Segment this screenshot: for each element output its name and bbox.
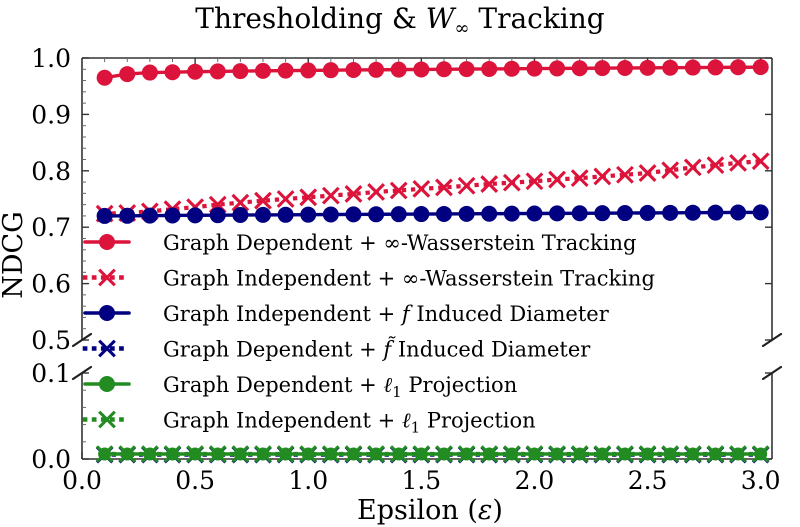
data-point-circle-marker bbox=[391, 62, 407, 78]
x-tick-label: 0.0 bbox=[62, 466, 102, 495]
data-point-circle-marker bbox=[99, 234, 115, 250]
data-point-circle-marker bbox=[187, 207, 203, 223]
data-point-circle-marker bbox=[142, 208, 158, 224]
x-tick-label: 1.0 bbox=[288, 466, 328, 495]
data-point-circle-marker bbox=[255, 63, 271, 79]
data-point-circle-marker bbox=[300, 62, 316, 78]
data-point-circle-marker bbox=[323, 207, 339, 223]
data-point-circle-marker bbox=[210, 207, 226, 223]
data-point-circle-marker bbox=[413, 206, 429, 222]
data-point-circle-marker bbox=[662, 205, 678, 221]
figure-root: Thresholding & W∞ Tracking NDCG Epsilon … bbox=[0, 0, 800, 527]
x-tick-label: 1.5 bbox=[401, 466, 441, 495]
y-tick-label: 0.5 bbox=[31, 326, 71, 355]
data-point-circle-marker bbox=[99, 305, 115, 321]
data-point-circle-marker bbox=[255, 207, 271, 223]
data-point-circle-marker bbox=[730, 204, 746, 220]
x-axis-label: Epsilon (ε) bbox=[357, 495, 503, 526]
data-point-circle-marker bbox=[413, 61, 429, 77]
data-point-circle-marker bbox=[278, 207, 294, 223]
data-point-circle-marker bbox=[391, 206, 407, 222]
y-tick-label: 1.0 bbox=[31, 44, 71, 73]
data-point-circle-marker bbox=[164, 64, 180, 80]
data-point-circle-marker bbox=[323, 62, 339, 78]
data-point-circle-marker bbox=[97, 70, 113, 86]
data-point-circle-marker bbox=[97, 208, 113, 224]
y-axis-label: NDCG bbox=[0, 211, 29, 299]
data-point-circle-marker bbox=[368, 62, 384, 78]
data-point-circle-marker bbox=[685, 205, 701, 221]
data-point-circle-marker bbox=[526, 205, 542, 221]
data-point-circle-marker bbox=[187, 64, 203, 80]
legend-circle-marker-icon bbox=[99, 376, 115, 392]
data-point-circle-marker bbox=[572, 205, 588, 221]
legend-circle-marker-icon bbox=[99, 234, 115, 250]
legend-label: Graph Independent + f Induced Diameter bbox=[163, 302, 610, 326]
y-tick-label: 0.6 bbox=[31, 270, 71, 299]
y-tick-label: 0.8 bbox=[31, 157, 71, 186]
legend-label: Graph Independent + ∞-Wasserstein Tracki… bbox=[163, 267, 655, 291]
data-point-circle-marker bbox=[549, 60, 565, 76]
data-point-circle-marker bbox=[436, 61, 452, 77]
legend-circle-marker-icon bbox=[99, 305, 115, 321]
legend-label: Graph Independent + ℓ1 Projection bbox=[163, 409, 536, 437]
x-tick-label: 2.0 bbox=[515, 466, 555, 495]
data-point-circle-marker bbox=[594, 205, 610, 221]
data-point-circle-marker bbox=[526, 61, 542, 77]
legend-label: Graph Dependent + f̃ Induced Diameter bbox=[163, 337, 591, 362]
data-point-circle-marker bbox=[730, 59, 746, 75]
data-point-circle-marker bbox=[640, 60, 656, 76]
legend-item[interactable]: Graph Independent + ∞-Wasserstein Tracki… bbox=[85, 267, 655, 291]
legend-label: Graph Dependent + ∞-Wasserstein Tracking bbox=[163, 231, 636, 255]
legend-item[interactable]: Graph Dependent + ∞-Wasserstein Tracking bbox=[85, 231, 636, 255]
data-point-circle-marker bbox=[232, 63, 248, 79]
data-point-circle-marker bbox=[662, 60, 678, 76]
data-point-circle-marker bbox=[753, 204, 769, 220]
data-point-circle-marker bbox=[232, 207, 248, 223]
data-point-circle-marker bbox=[594, 60, 610, 76]
data-point-circle-marker bbox=[640, 205, 656, 221]
data-point-circle-marker bbox=[549, 205, 565, 221]
x-tick-label: 3.0 bbox=[741, 466, 781, 495]
legend-item[interactable]: Graph Independent + f Induced Diameter bbox=[85, 302, 610, 326]
data-point-circle-marker bbox=[459, 206, 475, 222]
chart-canvas: Thresholding & W∞ Tracking NDCG Epsilon … bbox=[0, 0, 800, 527]
data-point-circle-marker bbox=[300, 207, 316, 223]
data-point-circle-marker bbox=[617, 205, 633, 221]
y-tick-label: 0.7 bbox=[31, 213, 71, 242]
data-point-circle-marker bbox=[504, 61, 520, 77]
data-point-circle-marker bbox=[345, 62, 361, 78]
data-point-circle-marker bbox=[142, 65, 158, 81]
data-point-circle-marker bbox=[345, 206, 361, 222]
data-point-circle-marker bbox=[504, 206, 520, 222]
data-point-circle-marker bbox=[278, 63, 294, 79]
chart-title: Thresholding & W∞ Tracking bbox=[195, 2, 605, 39]
data-point-circle-marker bbox=[436, 206, 452, 222]
data-point-circle-marker bbox=[119, 66, 135, 82]
data-point-circle-marker bbox=[164, 207, 180, 223]
data-point-circle-marker bbox=[707, 205, 723, 221]
x-tick-label: 2.5 bbox=[628, 466, 668, 495]
data-point-circle-marker bbox=[685, 60, 701, 76]
legend-label: Graph Dependent + ℓ1 Projection bbox=[163, 373, 517, 401]
data-point-circle-marker bbox=[707, 59, 723, 75]
data-point-circle-marker bbox=[119, 208, 135, 224]
data-point-circle-marker bbox=[481, 61, 497, 77]
y-tick-label: 0.1 bbox=[31, 359, 71, 388]
data-point-circle-marker bbox=[99, 376, 115, 392]
data-point-circle-marker bbox=[368, 206, 384, 222]
x-tick-label: 0.5 bbox=[175, 466, 215, 495]
y-tick-label: 0.9 bbox=[31, 100, 71, 129]
data-point-circle-marker bbox=[210, 63, 226, 79]
data-point-circle-marker bbox=[753, 59, 769, 75]
data-point-circle-marker bbox=[617, 60, 633, 76]
data-point-circle-marker bbox=[572, 60, 588, 76]
data-point-circle-marker bbox=[481, 206, 497, 222]
data-point-circle-marker bbox=[459, 61, 475, 77]
